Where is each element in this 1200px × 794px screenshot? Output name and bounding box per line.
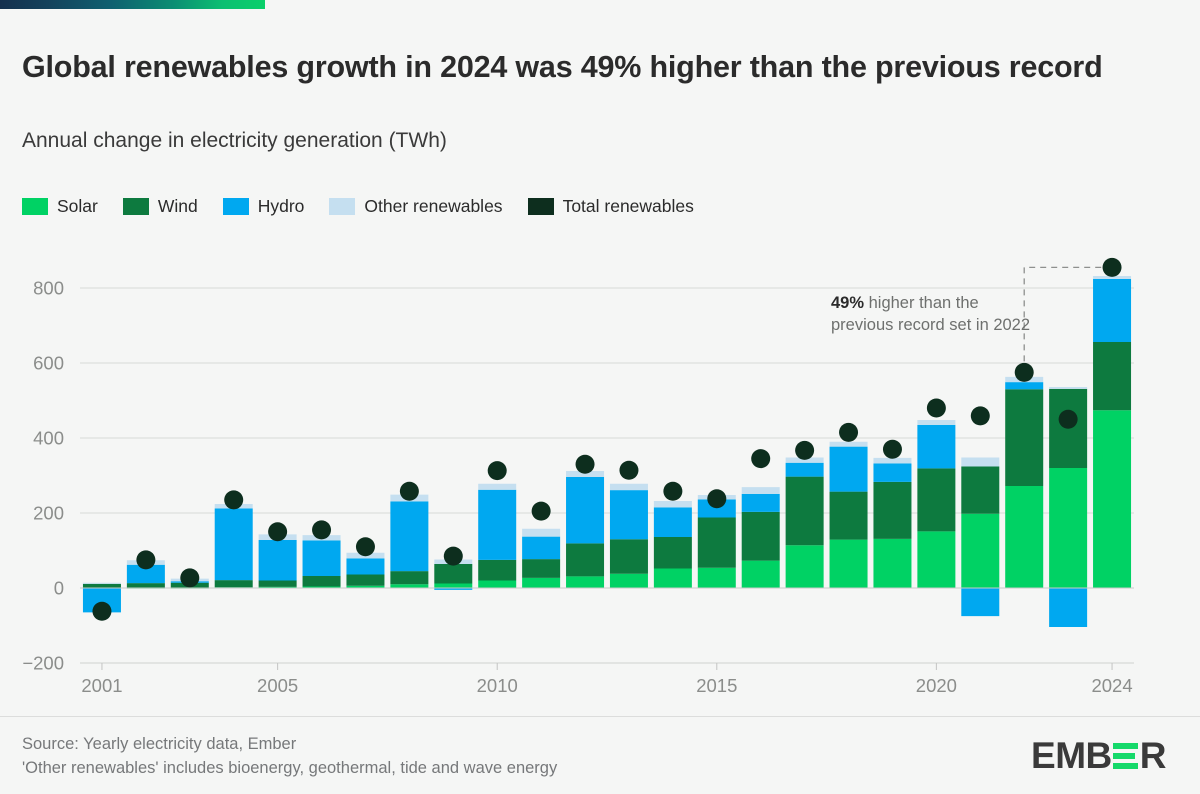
ember-logo: EMB R [1031, 735, 1166, 777]
total-renewables-marker [663, 482, 682, 501]
brand-accent-bar [0, 0, 265, 9]
y-axis-tick-label: 600 [33, 353, 64, 374]
bar-segment [303, 576, 341, 587]
source-line-1: Source: Yearly electricity data, Ember [22, 733, 557, 757]
bar-segment [961, 514, 999, 588]
y-axis-tick-label: 800 [33, 278, 64, 299]
x-axis-tick-label: 2020 [916, 675, 957, 696]
bar-segment [434, 584, 472, 589]
bar-segment [698, 518, 736, 568]
page-title: Global renewables growth in 2024 was 49%… [22, 46, 1152, 88]
bar-segment [830, 540, 868, 588]
bar-segment [83, 588, 121, 612]
chart-page: Global renewables growth in 2024 was 49%… [0, 0, 1200, 794]
bar-segment [346, 553, 384, 559]
bar-segment [390, 584, 428, 588]
total-renewables-marker [883, 440, 902, 459]
legend-item-label: Other renewables [364, 196, 502, 217]
bar-segment [215, 580, 253, 587]
bar-segment [1005, 377, 1043, 382]
bar-segment [610, 574, 648, 588]
bar-segment [917, 531, 955, 588]
bar-segment [522, 537, 560, 560]
bar-segment [873, 539, 911, 588]
legend-swatch-icon [223, 198, 249, 215]
bar-segment [215, 504, 253, 509]
bar-segment [171, 581, 209, 583]
bar-segment [346, 575, 384, 586]
legend-item-solar[interactable]: Solar [22, 196, 98, 217]
chart-plot: −200020040060080020012005201020152020202… [0, 0, 1200, 794]
bar-segment [654, 501, 692, 507]
bar-segment [215, 587, 253, 588]
annotation-highlight: 49% [831, 294, 864, 312]
legend-item-label: Solar [57, 196, 98, 217]
total-renewables-marker [1015, 363, 1034, 382]
bar-segment [1049, 588, 1087, 627]
bar-segment [830, 492, 868, 540]
bar-segment [1005, 389, 1043, 486]
legend-swatch-icon [123, 198, 149, 215]
bar-segment [522, 578, 560, 588]
bar-segment [522, 559, 560, 578]
source-note: Source: Yearly electricity data, Ember '… [22, 733, 557, 781]
y-axis-tick-label: 0 [54, 578, 64, 599]
bar-segment [1049, 389, 1087, 468]
bar-segment [961, 588, 999, 616]
x-axis-tick-label: 2001 [81, 675, 122, 696]
bar-segment [83, 583, 121, 584]
chart-annotation: 49% higher than the previous record set … [831, 292, 1031, 336]
bar-segment [259, 581, 297, 587]
bar-segment [654, 537, 692, 569]
bar-segment [786, 477, 824, 546]
bar-segment [434, 564, 472, 584]
bar-segment [346, 586, 384, 588]
legend-swatch-icon [22, 198, 48, 215]
bar-segment [522, 529, 560, 537]
bar-segment [390, 495, 428, 502]
total-renewables-marker [971, 406, 990, 425]
bar-segment [1049, 468, 1087, 588]
x-axis-tick-label: 2024 [1091, 675, 1132, 696]
logo-text-pre: EMB [1031, 735, 1112, 777]
legend-item-hydro[interactable]: Hydro [223, 196, 305, 217]
legend-item-other-renewables[interactable]: Other renewables [329, 196, 502, 217]
bar-segment [303, 535, 341, 540]
total-renewables-marker [180, 568, 199, 587]
total-renewables-marker [707, 489, 726, 508]
bar-segment [610, 484, 648, 490]
total-renewables-marker [576, 455, 595, 474]
bar-segment [698, 568, 736, 588]
bar-segment [873, 458, 911, 464]
bar-segment [961, 458, 999, 467]
bar-segment [742, 561, 780, 588]
total-renewables-marker [400, 482, 419, 501]
total-renewables-marker [1059, 410, 1078, 429]
bar-segment [127, 583, 165, 588]
bar-segment [566, 477, 604, 543]
bar-segment [566, 576, 604, 588]
logo-e-icon [1113, 742, 1138, 770]
legend-item-label: Total renewables [563, 196, 694, 217]
bar-segment [830, 442, 868, 447]
total-renewables-marker [92, 602, 111, 621]
bar-segment [873, 482, 911, 539]
x-axis-tick-label: 2015 [696, 675, 737, 696]
annotation-bracket [1024, 267, 1112, 372]
bar-segment [390, 501, 428, 571]
bar-segment [434, 560, 472, 565]
y-axis-tick-label: −200 [22, 653, 64, 674]
bar-segment [610, 539, 648, 574]
bar-segment [917, 425, 955, 469]
total-renewables-marker [488, 461, 507, 480]
bar-segment [742, 487, 780, 494]
bar-segment [961, 467, 999, 514]
legend-item-label: Hydro [258, 196, 305, 217]
x-axis-tick-label: 2010 [477, 675, 518, 696]
bar-segment [259, 540, 297, 581]
legend-item-total-renewables[interactable]: Total renewables [528, 196, 694, 217]
source-line-2: 'Other renewables' includes bioenergy, g… [22, 757, 557, 781]
bar-segment [215, 509, 253, 581]
legend-item-wind[interactable]: Wind [123, 196, 198, 217]
total-renewables-marker [312, 520, 331, 539]
chart-legend: SolarWindHydroOther renewablesTotal rene… [22, 196, 719, 217]
logo-text-post: R [1140, 735, 1166, 777]
bar-segment [654, 569, 692, 589]
total-renewables-marker [136, 550, 155, 569]
total-renewables-marker [268, 522, 287, 541]
bar-segment [786, 458, 824, 463]
bar-segment [127, 560, 165, 565]
bar-segment [1005, 382, 1043, 389]
bar-segment [478, 560, 516, 581]
bar-segment [1093, 279, 1131, 342]
bar-segment [873, 464, 911, 482]
total-renewables-marker [927, 399, 946, 418]
y-axis-tick-label: 400 [33, 428, 64, 449]
bar-segment [742, 494, 780, 512]
bar-segment [786, 545, 824, 588]
x-axis-tick-label: 2005 [257, 675, 298, 696]
total-renewables-marker [1103, 258, 1122, 277]
bar-segment [303, 587, 341, 589]
bar-segment [171, 583, 209, 588]
bar-segment [259, 534, 297, 540]
bar-segment [698, 495, 736, 500]
bar-segment [566, 471, 604, 477]
legend-item-label: Wind [158, 196, 198, 217]
bar-segment [917, 468, 955, 531]
legend-swatch-icon [329, 198, 355, 215]
bar-segment [390, 571, 428, 584]
bar-segment [83, 584, 121, 588]
bar-segment [171, 588, 209, 589]
bar-segment [610, 490, 648, 539]
bar-segment [698, 500, 736, 518]
bar-segment [259, 587, 297, 588]
bar-segment [171, 579, 209, 582]
y-axis-tick-label: 200 [33, 503, 64, 524]
bar-segment [478, 490, 516, 560]
bar-segment [654, 507, 692, 537]
bar-segment [434, 588, 472, 590]
total-renewables-marker [795, 441, 814, 460]
bar-segment [1093, 410, 1131, 588]
bar-segment [303, 540, 341, 576]
bar-segment [1049, 387, 1087, 389]
legend-swatch-icon [528, 198, 554, 215]
bar-segment [127, 565, 165, 583]
total-renewables-marker [839, 423, 858, 442]
bar-segment [478, 581, 516, 589]
footer-divider [0, 716, 1200, 717]
total-renewables-marker [356, 537, 375, 556]
page-subtitle: Annual change in electricity generation … [22, 129, 447, 153]
bar-segment [1093, 276, 1131, 279]
bar-segment [917, 420, 955, 425]
total-renewables-marker [532, 502, 551, 521]
bar-segment [742, 512, 780, 561]
bar-segment [566, 543, 604, 576]
bar-segment [830, 447, 868, 492]
bar-segment [127, 588, 165, 589]
bar-segment [786, 463, 824, 477]
bar-segment [1005, 486, 1043, 588]
bar-segment [478, 484, 516, 490]
total-renewables-marker [224, 490, 243, 509]
total-renewables-marker [619, 461, 638, 480]
bar-segment [1093, 342, 1131, 410]
total-renewables-marker [444, 547, 463, 566]
bar-segment [346, 558, 384, 574]
total-renewables-marker [751, 449, 770, 468]
